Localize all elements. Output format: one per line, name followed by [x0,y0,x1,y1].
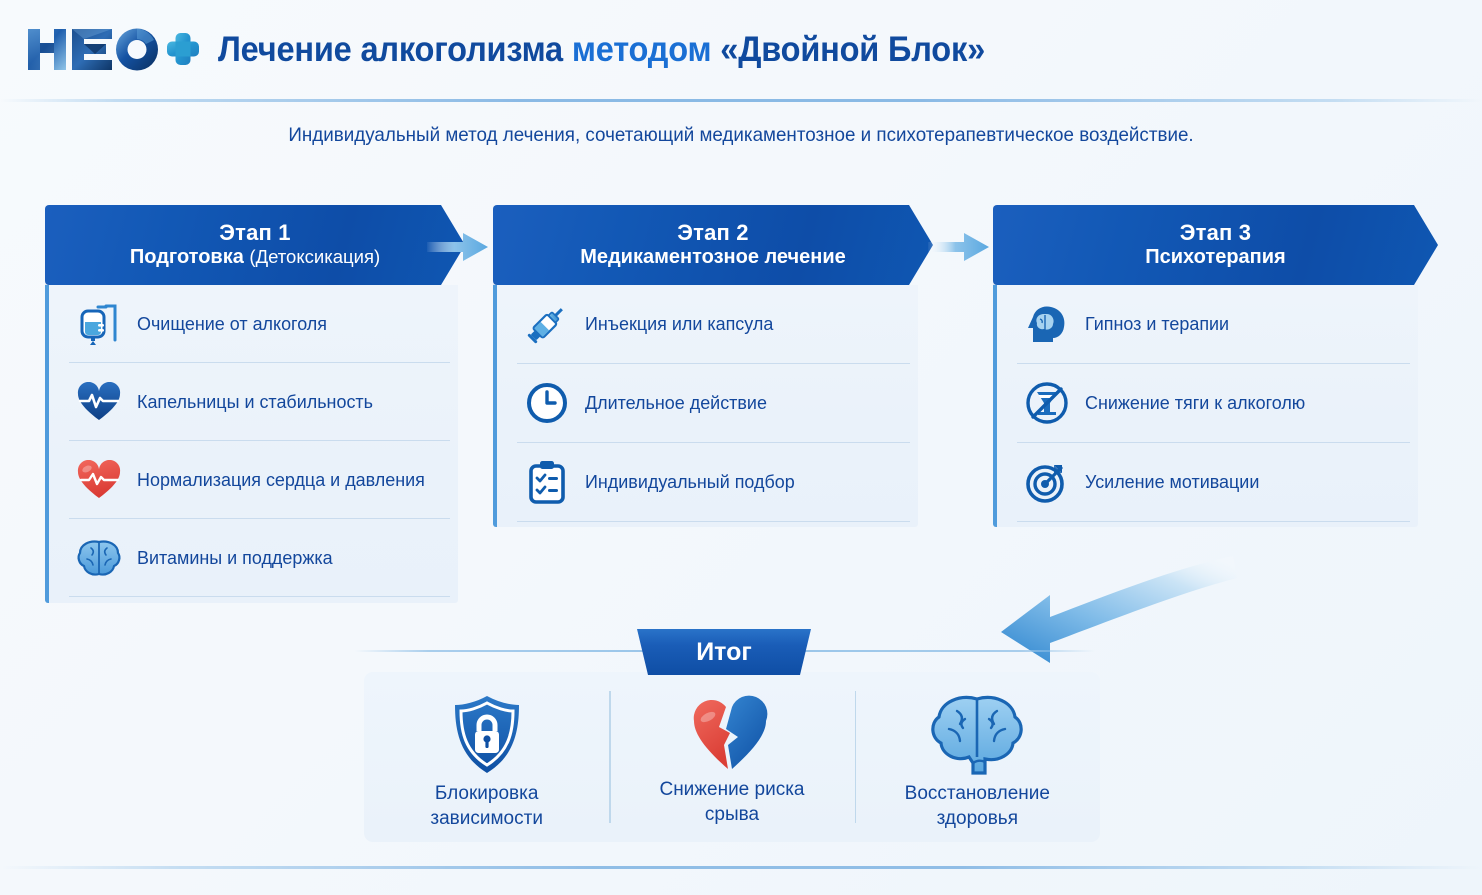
result-item-line2: зависимости [430,808,543,829]
result-item[interactable]: Снижение риска срыва [609,687,854,827]
result-item-line1: Снижение риска [659,779,804,800]
feature-label: Усиление мотивации [1085,471,1259,493]
heart-pulse-icon [73,379,125,425]
page-title: Лечение алкоголизма методом «Двойной Бло… [218,32,985,67]
syringe-icon [521,301,573,347]
feature-label: Инъекция или капсула [585,313,773,335]
result-item-line2: срыва [705,804,759,825]
feature-label: Витамины и поддержка [137,547,333,569]
header-divider [0,99,1482,102]
arrow-right-icon [928,232,990,262]
stage-1-body: Очищение от алкоголя Капельницы и стабил… [45,285,458,603]
stage-1-number: Этап 1 [219,221,291,245]
feature-label: Очищение от алкоголя [137,313,327,335]
iv-drip-icon [73,301,125,347]
stage-card-1: Этап 1 Подготовка (Детоксикация) [45,205,465,603]
feature-item[interactable]: Снижение тяги к алкоголю [1017,364,1410,443]
feature-item[interactable]: Очищение от алкоголя [69,285,450,363]
feature-item[interactable]: Инъекция или капсула [517,285,910,364]
feature-label: Гипноз и терапии [1085,313,1229,335]
stage-card-3: Этап 3 Психотерапия Гипноз и терапии [993,205,1438,527]
result-item-label: Снижение риска срыва [659,777,804,827]
feature-label: Нормализация сердца и давления [137,469,425,491]
result-card: Блокировка зависимости Снижение риска ср… [364,672,1100,842]
stage-1-name: Подготовка [130,246,244,268]
result-banner: Итог [634,629,814,675]
head-brain-icon [1021,301,1073,347]
stage-2-number: Этап 2 [677,221,749,245]
feature-item[interactable]: Длительное действие [517,364,910,443]
clipboard-icon [521,459,573,505]
feature-item[interactable]: Гипноз и терапии [1017,285,1410,364]
red-heart-icon [73,457,125,503]
stage-2-header: Этап 2 Медикаментозное лечение [493,205,933,285]
feature-item[interactable]: Нормализация сердца и давления [69,441,450,519]
feature-item[interactable]: Витамины и поддержка [69,519,450,597]
result-item-line1: Блокировка [435,783,539,804]
result-item-line1: Восстановление [905,783,1050,804]
stages-row: Этап 1 Подготовка (Детоксикация) [0,205,1482,565]
stage-2-name: Медикаментозное лечение [580,246,846,268]
stage-1-name-sub: (Детоксикация) [249,246,380,267]
page-title-part1: Лечение алкоголизма [218,30,563,69]
target-icon [1021,459,1073,505]
no-alcohol-icon [1021,380,1073,426]
page-title-part3: «Двойной Блок» [720,30,985,69]
stage-2-body: Инъекция или капсула Длительное действие [493,285,918,527]
stage-3-name: Психотерапия [1145,246,1285,268]
brain-icon [73,535,125,581]
clock-icon [521,380,573,426]
feature-label: Индивидуальный подбор [585,471,795,493]
result-item-label: Восстановление здоровья [905,781,1050,831]
feature-label: Капельницы и стабильность [137,391,373,413]
page-title-part2: методом [572,30,712,69]
result-item[interactable]: Блокировка зависимости [364,687,609,827]
stage-card-2: Этап 2 Медикаментозное лечение [493,205,933,527]
result-item[interactable]: Восстановление здоровья [855,687,1100,827]
page-header: Лечение алкоголизма методом «Двойной Бло… [0,0,1482,98]
brain-icon [927,693,1027,777]
feature-item[interactable]: Индивидуальный подбор [517,443,910,522]
result-banner-label: Итог [696,638,752,667]
broken-heart-icon [686,693,778,773]
stage-3-body: Гипноз и терапии Снижение тяги к алкогол… [993,285,1418,527]
stage-3-header: Этап 3 Психотерапия [993,205,1438,285]
footer-divider [0,866,1482,869]
stage-1-header: Этап 1 Подготовка (Детоксикация) [45,205,465,285]
feature-label: Снижение тяги к алкоголю [1085,392,1305,414]
result-item-line2: здоровья [937,808,1018,829]
arrow-right-icon [427,232,489,262]
feature-item[interactable]: Капельницы и стабильность [69,363,450,441]
feature-label: Длительное действие [585,392,767,414]
shield-lock-icon [449,693,525,777]
result-item-label: Блокировка зависимости [430,781,543,831]
stage-3-number: Этап 3 [1180,221,1252,245]
page-subtitle: Индивидуальный метод лечения, сочетающий… [26,124,1456,147]
feature-item[interactable]: Усиление мотивации [1017,443,1410,522]
neo-plus-logo [24,23,200,75]
